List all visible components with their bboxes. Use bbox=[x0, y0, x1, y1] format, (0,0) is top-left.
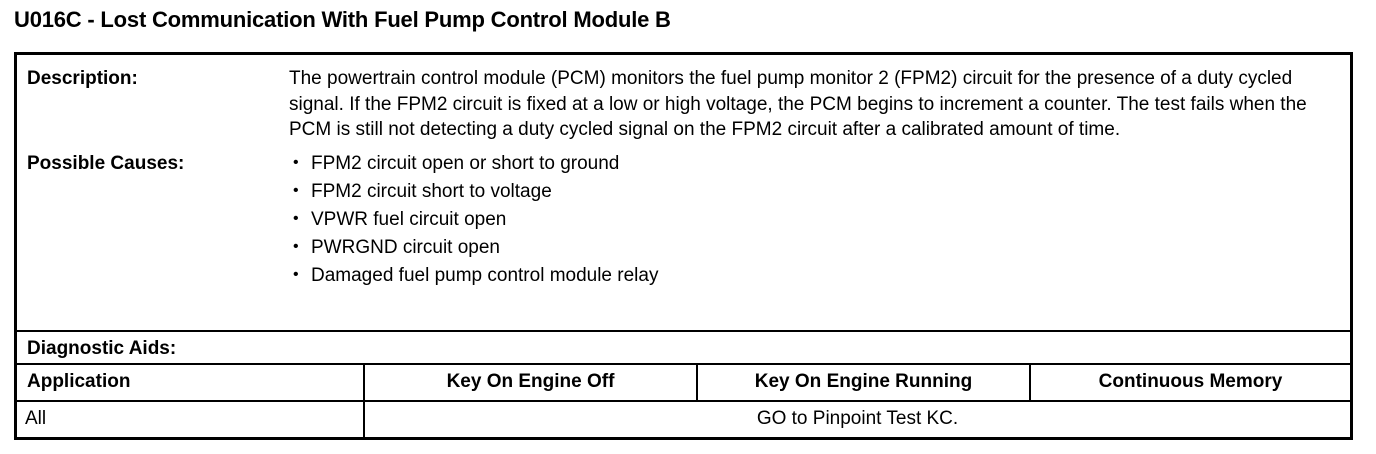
dtc-detail-box: Description: The powertrain control modu… bbox=[14, 52, 1353, 440]
list-item: FPM2 circuit open or short to ground bbox=[289, 150, 1336, 178]
possible-causes-label: Possible Causes: bbox=[17, 150, 289, 176]
dtc-document-page: U016C - Lost Communication With Fuel Pum… bbox=[0, 0, 1376, 454]
diagnostic-aids-label: Diagnostic Aids: bbox=[17, 332, 1350, 361]
column-header-key-on-engine-off: Key On Engine Off bbox=[364, 364, 697, 401]
column-header-application: Application bbox=[17, 364, 364, 401]
table-header-row: Application Key On Engine Off Key On Eng… bbox=[17, 364, 1350, 401]
table-row: All GO to Pinpoint Test KC. bbox=[17, 401, 1350, 438]
diagnostic-result-table: Application Key On Engine Off Key On Eng… bbox=[17, 363, 1350, 438]
column-header-key-on-engine-running: Key On Engine Running bbox=[697, 364, 1030, 401]
page-title: U016C - Lost Communication With Fuel Pum… bbox=[14, 7, 671, 33]
possible-causes-list: FPM2 circuit open or short to ground FPM… bbox=[289, 150, 1336, 290]
info-section: Description: The powertrain control modu… bbox=[17, 55, 1350, 290]
list-item: PWRGND circuit open bbox=[289, 234, 1336, 262]
list-item: VPWR fuel circuit open bbox=[289, 206, 1336, 234]
cell-result: GO to Pinpoint Test KC. bbox=[364, 401, 1350, 438]
cell-application: All bbox=[17, 401, 364, 438]
description-label: Description: bbox=[17, 55, 289, 91]
list-item: Damaged fuel pump control module relay bbox=[289, 262, 1336, 290]
list-item: FPM2 circuit short to voltage bbox=[289, 178, 1336, 206]
possible-causes-row: Possible Causes: FPM2 circuit open or sh… bbox=[17, 150, 1350, 290]
column-header-continuous-memory: Continuous Memory bbox=[1030, 364, 1350, 401]
description-row: Description: The powertrain control modu… bbox=[17, 55, 1350, 143]
diagnostic-aids-row: Diagnostic Aids: bbox=[17, 330, 1350, 363]
description-text: The powertrain control module (PCM) moni… bbox=[289, 55, 1350, 143]
possible-causes-value: FPM2 circuit open or short to ground FPM… bbox=[289, 150, 1350, 290]
